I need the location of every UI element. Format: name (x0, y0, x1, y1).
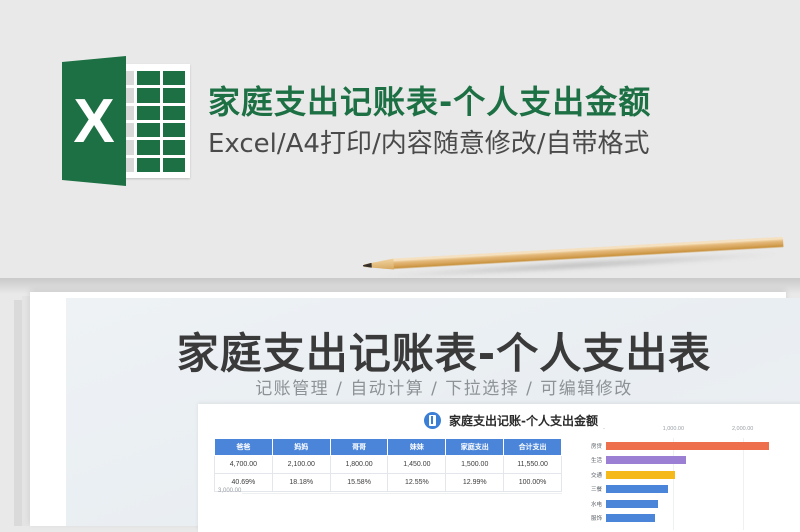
table-col-header: 合计支出 (504, 439, 562, 456)
screenshot-canvas: X 家庭支出记账表-个人支出金额 Excel/A4打印/内容随意修改/自带格式 … (0, 0, 800, 526)
promo-banner: X 家庭支出记账表-个人支出金额 Excel/A4打印/内容随意修改/自带格式 (0, 0, 800, 248)
banner-text-block: 家庭支出记账表-个人支出金额 Excel/A4打印/内容随意修改/自带格式 (208, 83, 651, 159)
table-row: 40.69% 18.18% 15.58% 12.55% 12.99% 100.0… (215, 474, 562, 492)
table-cell: 1,500.00 (446, 456, 504, 474)
table-col-header: 爸爸 (215, 439, 273, 456)
column-chart-gridline (242, 493, 562, 494)
spreadsheet-card: 家庭支出记账-个人支出金额 爸爸 妈妈 哥哥 妹妹 家庭支出 合计支出 (198, 404, 800, 532)
bar-chart-row: 生活 (576, 454, 800, 466)
column-chart-axis-label: 3,000.00 (218, 488, 241, 494)
table-cell: 12.55% (388, 474, 446, 492)
bar-chart-tick: 1,000.00 (663, 426, 684, 432)
bar-chart-row: 房贷 (576, 440, 800, 452)
horizontal-bar-chart: -1,000.002,000.003,000.00 房贷生活交通三餐水电服饰 (576, 426, 800, 532)
bar-chart-bar (606, 442, 769, 450)
bar-chart-tick-labels: -1,000.002,000.003,000.00 (604, 426, 800, 438)
doc-title: 家庭支出记账表-个人支出表 (66, 320, 800, 381)
worksheet-icon (424, 412, 441, 429)
table-cell: 18.18% (272, 474, 330, 492)
bar-chart-bar (606, 471, 675, 479)
bar-chart-category-label: 房贷 (576, 442, 606, 450)
bar-chart-row: 交通 (576, 469, 800, 481)
bar-chart-row: 水电 (576, 498, 800, 510)
table-cell: 4,700.00 (215, 456, 273, 474)
bar-chart-category-label: 三餐 (576, 485, 606, 493)
table-col-header: 哥哥 (330, 439, 388, 456)
table-col-header: 妈妈 (272, 439, 330, 456)
table-col-header: 家庭支出 (446, 439, 504, 456)
bar-chart-rows: 房贷生活交通三餐水电服饰 (576, 440, 800, 526)
paper-surface: 家庭支出记账表-个人支出表 记账管理 / 自动计算 / 下拉选择 / 可编辑修改… (66, 298, 800, 526)
table-cell: 1,450.00 (388, 456, 446, 474)
bar-chart-category-label: 交通 (576, 471, 606, 479)
bar-chart-tick: 2,000.00 (732, 426, 753, 432)
bar-chart-category-label: 服饰 (576, 514, 606, 522)
document-preview: 家庭支出记账表-个人支出表 记账管理 / 自动计算 / 下拉选择 / 可编辑修改… (0, 292, 800, 526)
banner-subtitle: Excel/A4打印/内容随意修改/自带格式 (208, 130, 651, 159)
bar-chart-bar (606, 456, 686, 464)
table-header-row: 爸爸 妈妈 哥哥 妹妹 家庭支出 合计支出 (215, 439, 562, 456)
banner-title: 家庭支出记账表-个人支出金额 (208, 85, 651, 120)
table-cell: 12.99% (446, 474, 504, 492)
bar-chart-category-label: 生活 (576, 456, 606, 464)
bar-chart-row: 服饰 (576, 512, 800, 524)
doc-subtitle: 记账管理 / 自动计算 / 下拉选择 / 可编辑修改 (66, 374, 800, 399)
bar-chart-bar (606, 514, 655, 522)
expense-table: 爸爸 妈妈 哥哥 妹妹 家庭支出 合计支出 4,700.00 2 (214, 438, 562, 492)
table-col-header: 妹妹 (388, 439, 446, 456)
bar-chart-bar (606, 500, 658, 508)
bar-chart-bar (606, 485, 668, 493)
table-cell: 15.58% (330, 474, 388, 492)
excel-logo-icon: X (62, 56, 190, 186)
bar-chart-row: 三餐 (576, 483, 800, 495)
table-cell: 11,550.00 (504, 456, 562, 474)
bar-chart-tick: - (603, 426, 605, 432)
paper-sheet-front: 家庭支出记账表-个人支出表 记账管理 / 自动计算 / 下拉选择 / 可编辑修改… (30, 292, 786, 526)
table-cell: 1,800.00 (330, 456, 388, 474)
banner-content: X 家庭支出记账表-个人支出金额 Excel/A4打印/内容随意修改/自带格式 (62, 56, 651, 186)
pencil-lead (363, 263, 372, 268)
excel-logo-letter: X (62, 56, 126, 186)
table-cell: 100.00% (504, 474, 562, 492)
bar-chart-category-label: 水电 (576, 500, 606, 508)
table-row: 4,700.00 2,100.00 1,800.00 1,450.00 1,50… (215, 456, 562, 474)
table-cell: 2,100.00 (272, 456, 330, 474)
